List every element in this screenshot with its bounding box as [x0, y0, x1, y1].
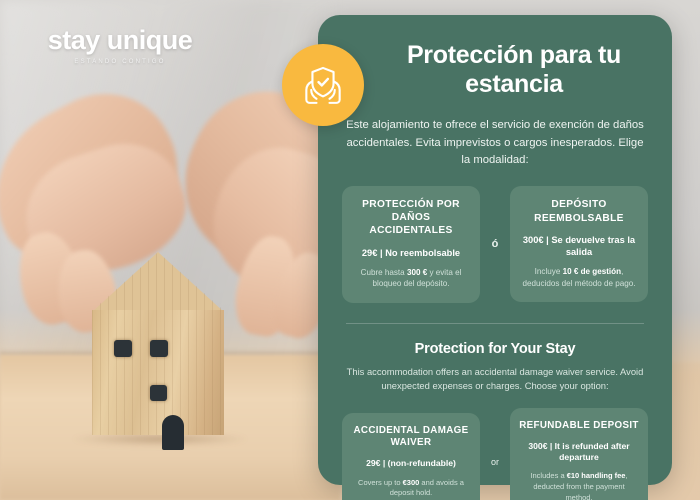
shield-check-in-hands-icon: [297, 59, 349, 111]
option-note: Cubre hasta 300 € y evita el bloqueo del…: [351, 267, 471, 290]
option-price-detail: No reembolsable: [385, 248, 460, 258]
brand-logo: stay unique ESTANDO CONTIGO: [40, 25, 200, 65]
option-refundable-deposit-es[interactable]: DEPÓSITO REEMBOLSABLE 300€ | Se devuelve…: [510, 186, 648, 302]
house-window-3: [150, 385, 167, 401]
option-separator-en: or: [488, 457, 502, 467]
option-price-detail: (non-refundable): [388, 458, 456, 468]
option-accidental-damage-es[interactable]: PROTECCIÓN POR DAÑOS ACCIDENTALES 29€ | …: [342, 186, 480, 303]
option-price: 29€ | (non-refundable): [351, 458, 471, 469]
option-note: Includes a €10 handling fee, deducted fr…: [519, 471, 639, 500]
note-prefix: Includes a: [530, 471, 566, 480]
option-price-amount: 29€: [366, 458, 380, 468]
note-prefix: Incluye: [535, 267, 563, 276]
section-title-en: Protection for Your Stay: [342, 341, 648, 357]
option-title: ACCIDENTAL DAMAGE WAIVER: [351, 425, 471, 451]
note-highlight: €300: [403, 478, 420, 487]
logo-wordmark: stay unique: [40, 25, 200, 56]
options-row-es: PROTECCIÓN POR DAÑOS ACCIDENTALES 29€ | …: [342, 186, 648, 303]
option-title: PROTECCIÓN POR DAÑOS ACCIDENTALES: [351, 198, 471, 238]
option-note: Covers up to €300 and avoids a deposit h…: [351, 478, 471, 499]
section-divider: [346, 323, 644, 324]
note-prefix: Covers up to: [358, 478, 403, 487]
option-price-detail: It is refunded after departure: [555, 441, 630, 462]
note-prefix: Cubre hasta: [361, 268, 407, 277]
option-price: 29€ | No reembolsable: [351, 247, 471, 259]
option-price-amount: 300€: [523, 235, 544, 245]
options-row-en: ACCIDENTAL DAMAGE WAIVER 29€ | (non-refu…: [342, 408, 648, 500]
option-price-detail: Se devuelve tras la salida: [551, 235, 635, 257]
option-price: 300€ | It is refunded after departure: [519, 441, 639, 463]
protection-card: Protección para tu estancia Este alojami…: [318, 15, 672, 485]
house-door: [162, 415, 184, 450]
house-window-1: [114, 340, 132, 357]
option-title: REFUNDABLE DEPOSIT: [519, 420, 639, 433]
wooden-toy-house: [92, 252, 224, 435]
option-separator-es: ó: [488, 238, 502, 250]
logo-tagline: ESTANDO CONTIGO: [40, 59, 200, 65]
house-window-2: [150, 340, 168, 357]
option-note: Incluye 10 € de gestión, deducidos del m…: [519, 266, 639, 289]
option-refundable-deposit-en[interactable]: REFUNDABLE DEPOSIT 300€ | It is refunded…: [510, 408, 648, 500]
protection-badge: [282, 44, 364, 126]
option-accidental-damage-en[interactable]: ACCIDENTAL DAMAGE WAIVER 29€ | (non-refu…: [342, 413, 480, 500]
option-price-amount: 300€: [528, 441, 547, 451]
note-highlight: 10 € de gestión: [563, 267, 621, 276]
option-price-amount: 29€: [362, 248, 378, 258]
intro-text-en: This accommodation offers an accidental …: [342, 365, 648, 394]
note-highlight: €10 handling fee: [567, 471, 626, 480]
intro-text-es: Este alojamiento te ofrece el servicio d…: [342, 117, 648, 170]
page-title: Protección para tu estancia: [342, 41, 648, 99]
note-highlight: 300 €: [407, 268, 427, 277]
option-title: DEPÓSITO REEMBOLSABLE: [519, 198, 639, 225]
option-price: 300€ | Se devuelve tras la salida: [519, 234, 639, 258]
